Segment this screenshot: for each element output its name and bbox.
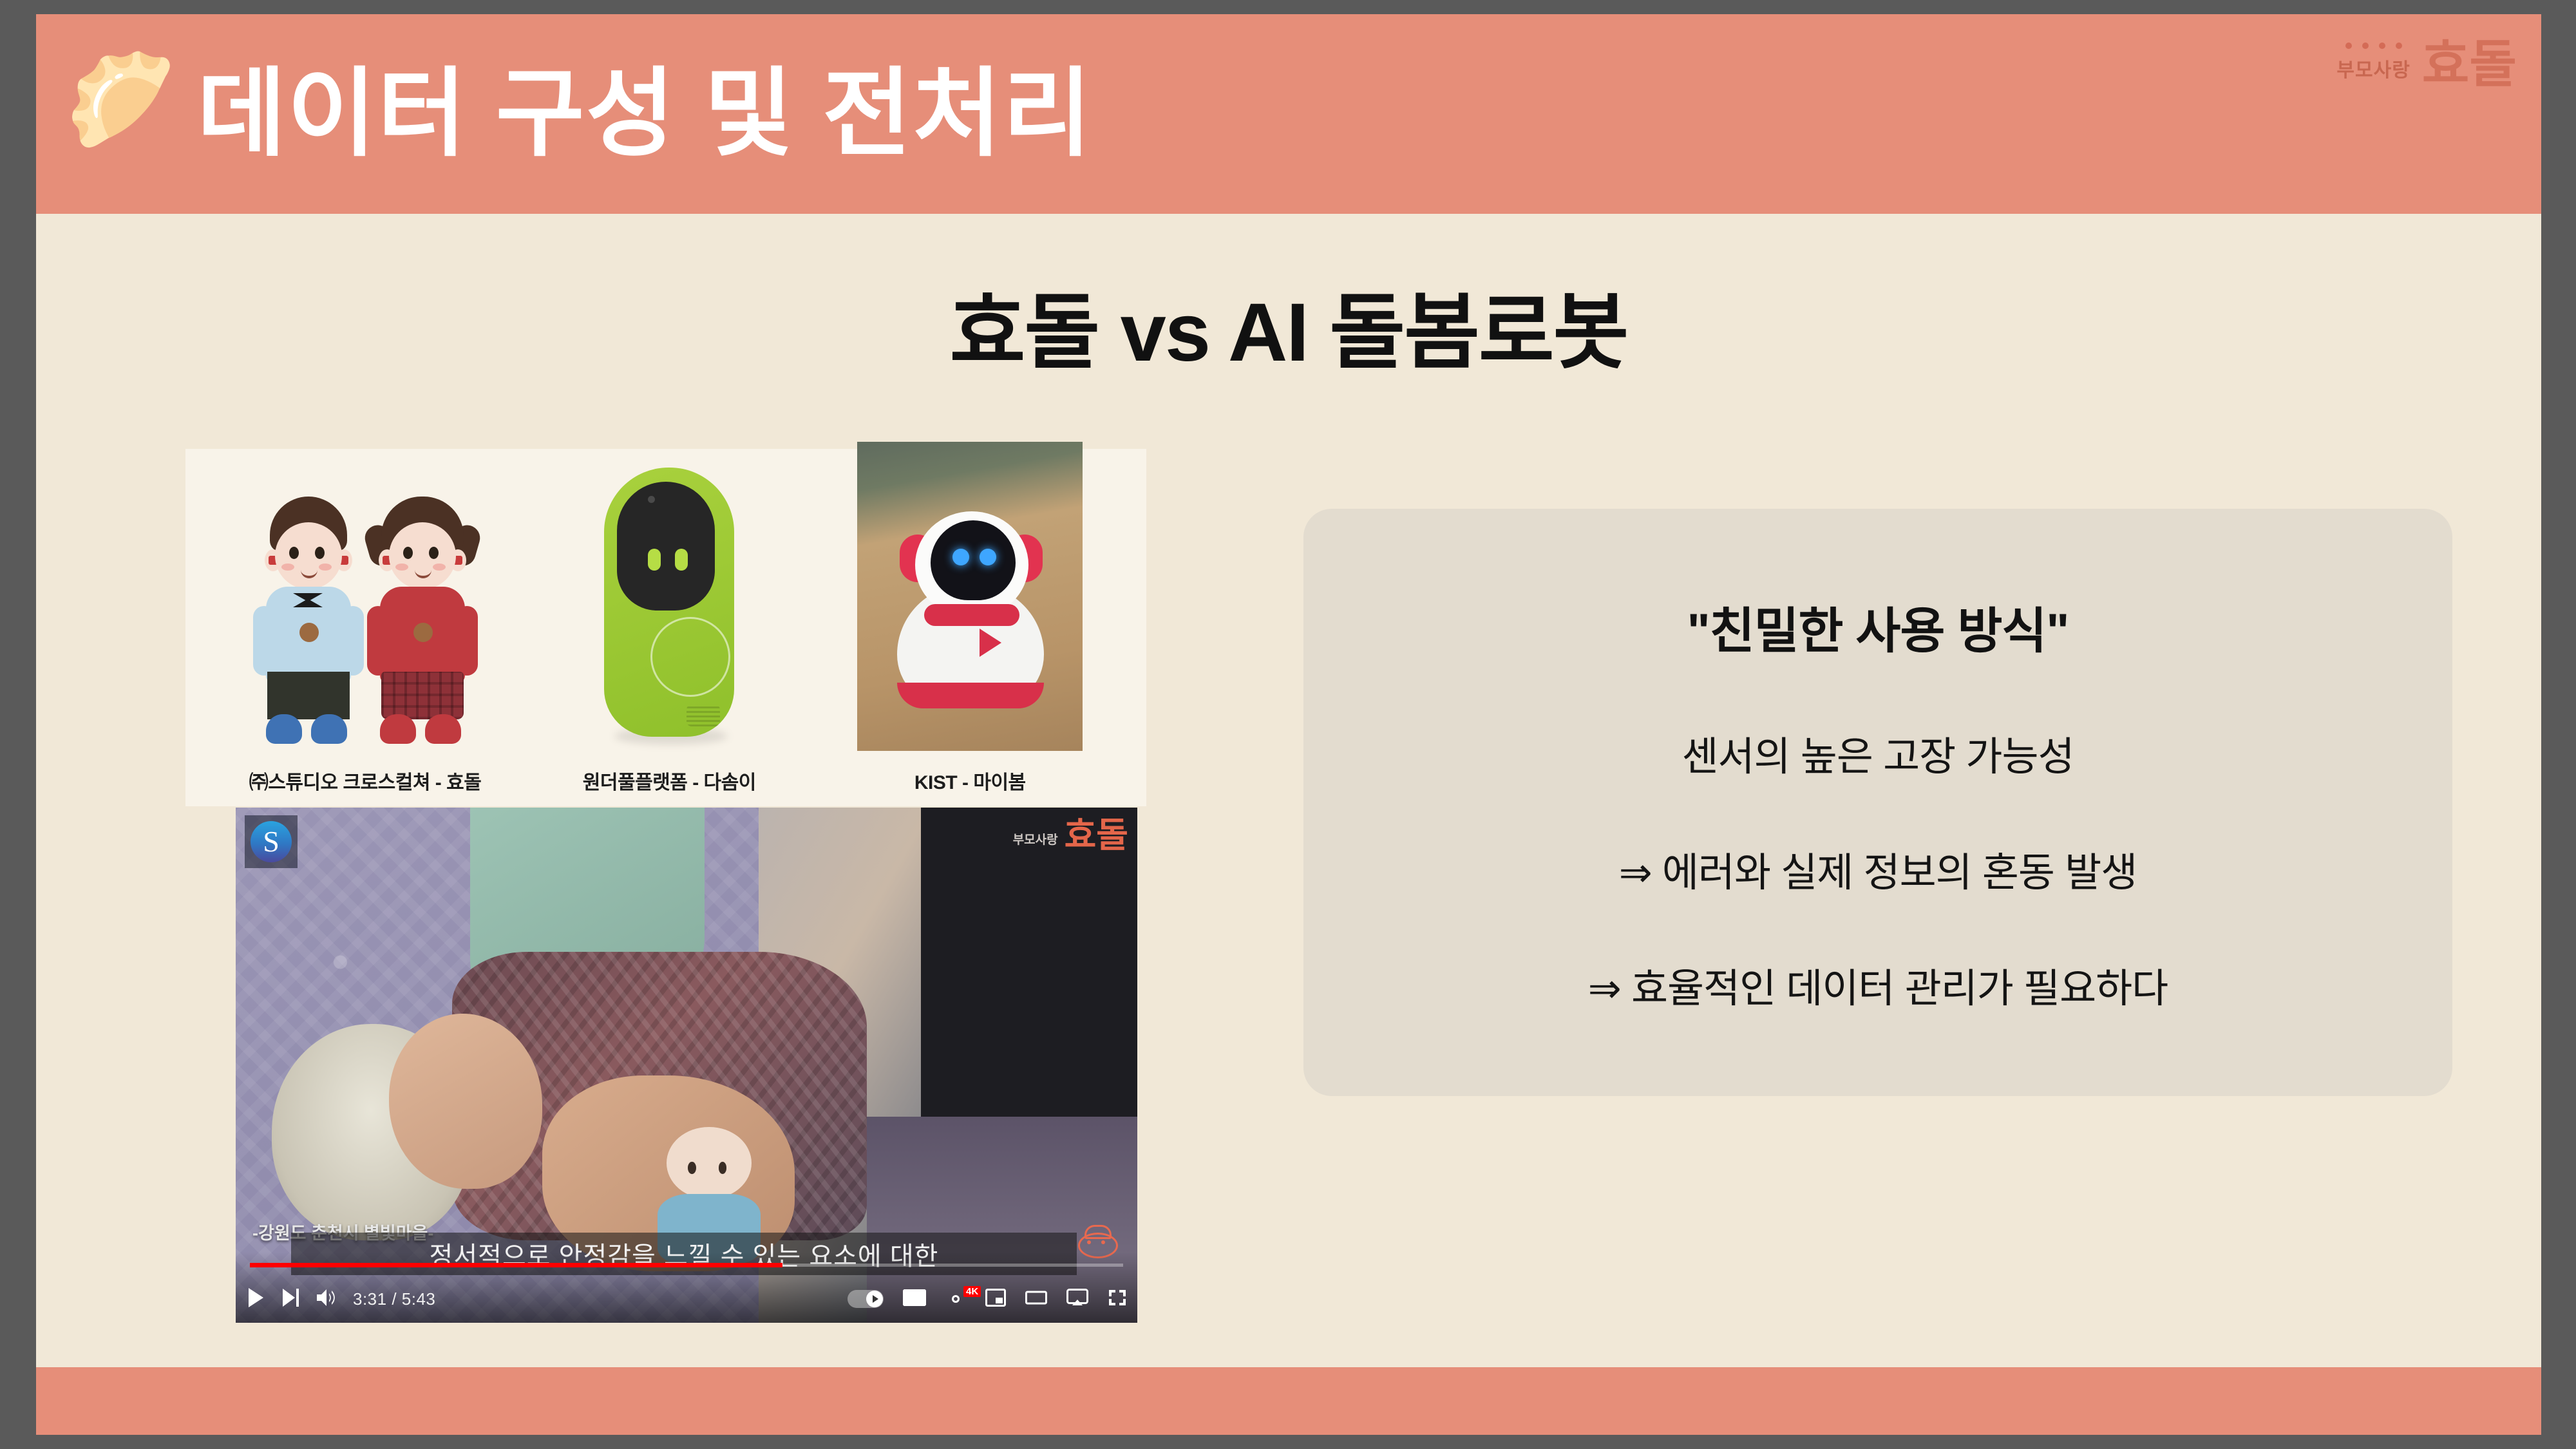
channel-watermark-icon: S bbox=[245, 815, 298, 868]
brand-sub-wrap: 부모사랑 bbox=[2336, 43, 2410, 90]
channel-logo-letter: S bbox=[263, 827, 279, 857]
product-caption: 원더풀플랫폼 - 다솜이 bbox=[583, 766, 756, 795]
textbox-line-2: ⇒ 에러와 실제 정보의 혼동 발생 bbox=[1619, 840, 2137, 898]
insight-textbox: "친밀한 사용 방식" 센서의 높은 고장 가능성 ⇒ 에러와 실제 정보의 혼… bbox=[1303, 509, 2452, 1096]
product-comparison-panel: ㈜스튜디오 크로스컬쳐 - 효돌 원더풀플랫폼 - 다솜이 bbox=[185, 449, 1146, 806]
main-heading: 효돌 vs AI 돌봄로봇 bbox=[36, 265, 2541, 384]
brand-name: 효돌 bbox=[2422, 39, 2517, 90]
product-item-mybom: KIST - 마이봄 bbox=[857, 437, 1083, 806]
video-brand-subtitle: 부모사랑 bbox=[1013, 830, 1058, 853]
product-item-dasomi: 원더풀플랫폼 - 다솜이 bbox=[583, 437, 756, 806]
settings-gear-button[interactable]: 4K bbox=[945, 1289, 966, 1309]
product-caption: KIST - 마이봄 bbox=[914, 766, 1026, 795]
autoplay-toggle[interactable] bbox=[848, 1290, 884, 1308]
video-brand-name: 효돌 bbox=[1065, 818, 1128, 853]
mybom-robot-image bbox=[857, 442, 1083, 751]
page-title: 데이터 구성 및 전처리 bbox=[197, 30, 1093, 197]
next-button[interactable] bbox=[281, 1287, 300, 1312]
hyodol-brand-logo: 부모사랑 효돌 bbox=[2336, 39, 2517, 90]
video-time-display: 3:31 / 5:43 bbox=[353, 1289, 435, 1309]
doll-boy-figure bbox=[252, 497, 365, 751]
subtitles-button[interactable] bbox=[903, 1289, 926, 1309]
textbox-line-3: ⇒ 효율적인 데이터 관리가 필요하다 bbox=[1588, 956, 2168, 1014]
product-item-hyodol: ㈜스튜디오 크로스컬쳐 - 효돌 bbox=[249, 437, 482, 806]
slide-header-bar: 🥟 데이터 구성 및 전처리 부모사랑 효돌 bbox=[36, 14, 2541, 214]
brand-dots-icon bbox=[2345, 43, 2402, 49]
slide-canvas: 🥟 데이터 구성 및 전처리 부모사랑 효돌 효돌 vs AI 돌봄로봇 bbox=[36, 14, 2541, 1435]
brand-subtitle: 부모사랑 bbox=[2336, 54, 2410, 82]
theater-mode-button[interactable] bbox=[1025, 1289, 1047, 1309]
product-grid: ㈜스튜디오 크로스컬쳐 - 효돌 원더풀플랫폼 - 다솜이 bbox=[185, 449, 1146, 806]
textbox-line-1: 센서의 높은 고장 가능성 bbox=[1681, 724, 2074, 782]
video-controls-bar[interactable]: 3:31 / 5:43 4K bbox=[236, 1252, 1137, 1323]
miniplayer-button[interactable] bbox=[985, 1289, 1006, 1310]
doll-girl-figure bbox=[366, 497, 478, 751]
cast-button[interactable] bbox=[1066, 1289, 1088, 1310]
play-button[interactable] bbox=[246, 1287, 265, 1312]
video-progress-bar[interactable] bbox=[250, 1264, 1123, 1267]
video-player[interactable]: S 부모사랑 효돌 -강원도 춘천시 별빛마을- 정서적으로 안정감을 느낄 수… bbox=[236, 808, 1137, 1323]
dumpling-icon: 🥟 bbox=[50, 27, 193, 166]
textbox-quote: "친밀한 사용 방식" bbox=[1687, 591, 2069, 662]
fullscreen-button[interactable] bbox=[1108, 1289, 1127, 1310]
quality-badge: 4K bbox=[963, 1286, 981, 1297]
product-caption: ㈜스튜디오 크로스컬쳐 - 효돌 bbox=[249, 766, 482, 795]
hyodol-dolls-image bbox=[252, 493, 478, 751]
volume-button[interactable] bbox=[316, 1287, 337, 1311]
video-progress-played bbox=[250, 1263, 782, 1267]
video-hyodol-logo: 부모사랑 효돌 bbox=[1013, 818, 1128, 853]
hyodol-face-watermark-icon bbox=[1077, 1225, 1115, 1255]
slide-footer-bar bbox=[36, 1367, 2541, 1435]
dasomi-robot-image bbox=[589, 468, 750, 751]
